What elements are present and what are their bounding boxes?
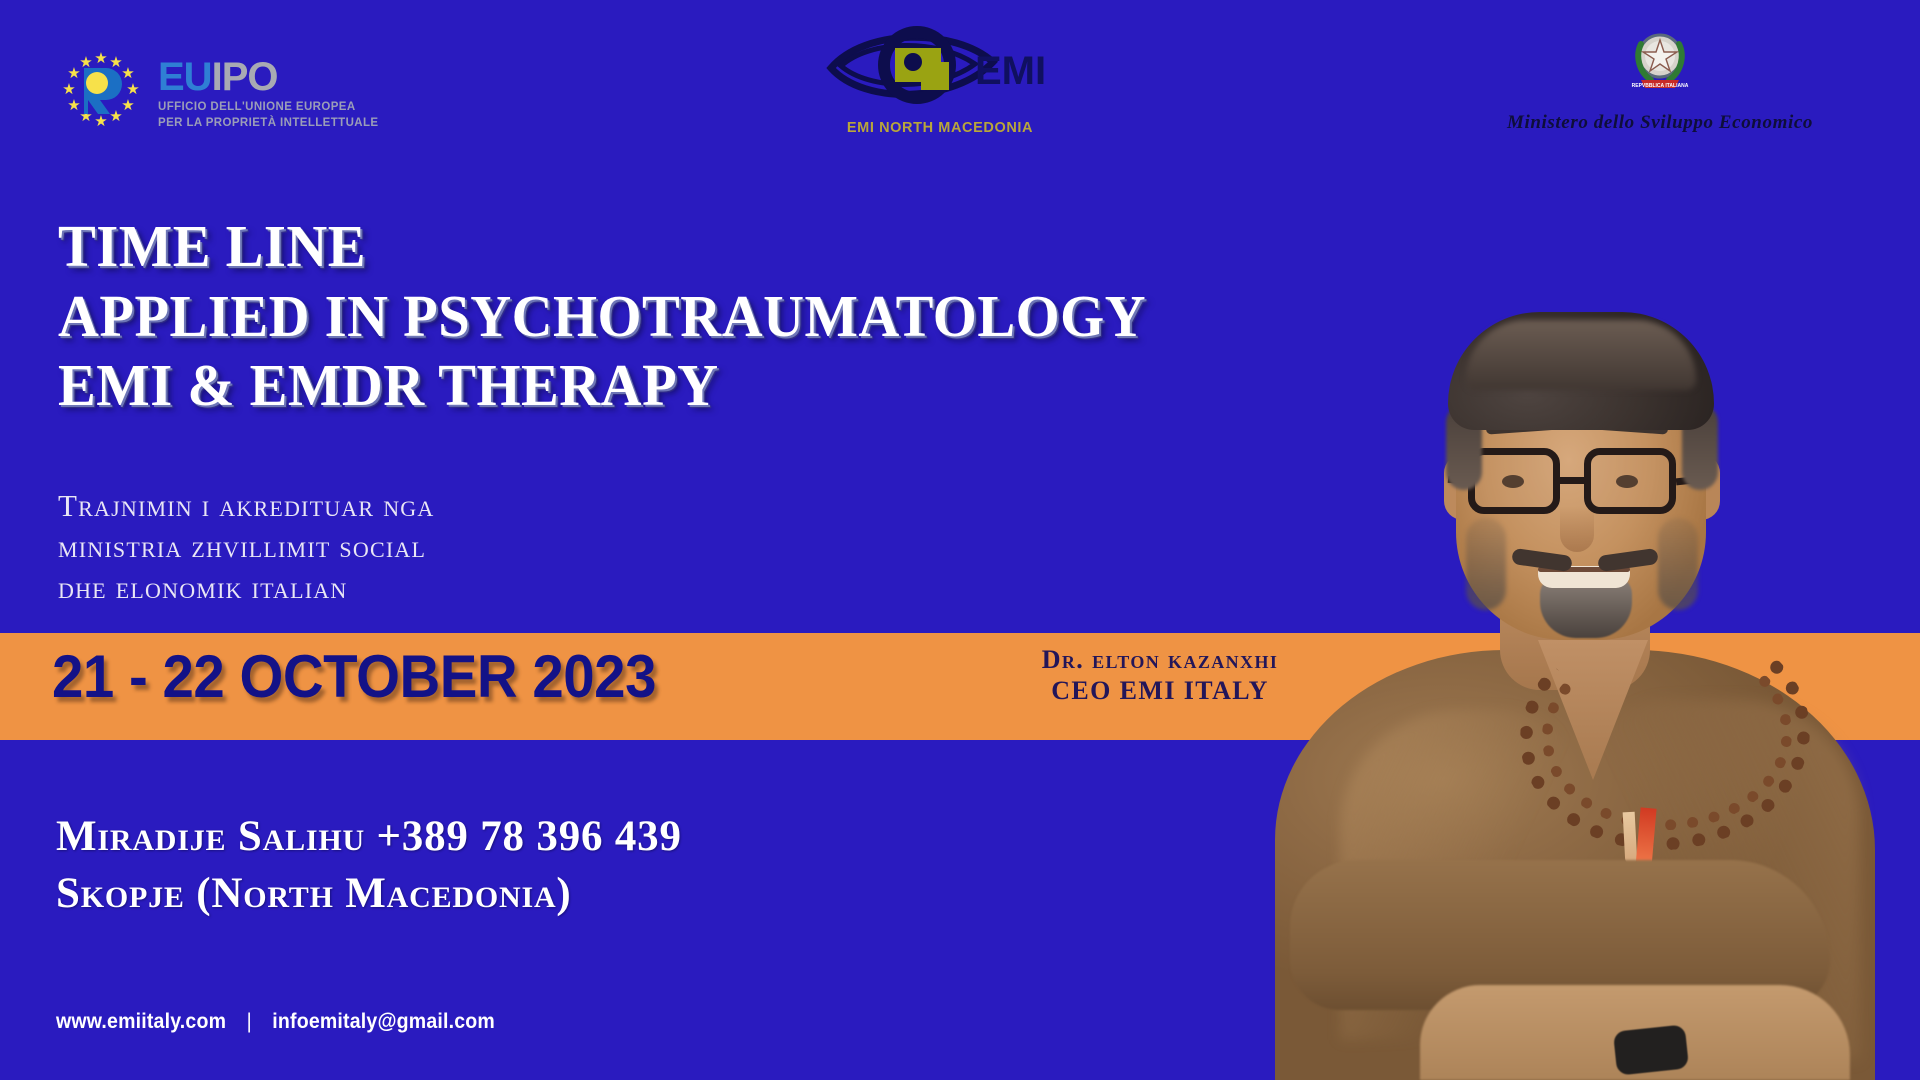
footer-separator: |	[247, 1010, 252, 1034]
website-link[interactable]: www.emiitaly.com	[56, 1010, 226, 1034]
contact-info: Miradije Salihu +389 78 396 439 Skopje (…	[56, 808, 956, 922]
svg-text:★: ★	[94, 50, 107, 67]
logo-bar: ★ ★ ★ ★ ★ ★ ★ ★ ★ ★ ★ ★	[0, 0, 1920, 175]
eu-circle-svg: ★ ★ ★ ★ ★ ★ ★ ★ ★ ★ ★ ★	[58, 48, 144, 134]
emi-eye-icon: EMI	[825, 22, 1055, 110]
euipo-wordmark: EUIPO UFFICIO DELL'UNIONE EUROPEA PER LA…	[158, 48, 379, 131]
event-date: 21 - 22 OCTOBER 2023	[52, 647, 656, 707]
speaker-block: Dr. elton kazanxhi CEO EMI ITALY	[950, 645, 1370, 706]
title-line-3: EMI & EMDR THERAPY	[58, 351, 1191, 421]
title-line-1: TIME LINE	[58, 212, 1191, 282]
euipo-ipo-text: IPO	[212, 55, 278, 99]
svg-text:★: ★	[94, 113, 107, 130]
svg-text:EMI: EMI	[975, 49, 1046, 93]
svg-text:★: ★	[121, 97, 134, 114]
eyeglasses	[1468, 448, 1560, 514]
title-line-2: APPLIED IN PSYCHOTRAUMATOLOGY	[58, 282, 1191, 352]
event-poster: ★ ★ ★ ★ ★ ★ ★ ★ ★ ★ ★ ★	[0, 0, 1920, 1080]
date-band: 21 - 22 OCTOBER 2023 Dr. elton kazanxhi …	[0, 633, 1920, 740]
accreditation-subtitle: Trajnimin i akredituar nga ministria zhv…	[58, 485, 758, 609]
speaker-portrait-photo	[1220, 145, 1920, 1080]
svg-text:★: ★	[67, 97, 80, 114]
footer-bar: www.emiitaly.com | infoemitaly@gmail.com	[56, 1010, 495, 1034]
euipo-eu-text: EU	[158, 55, 212, 99]
emi-logo: EMI EMI NORTH MACEDONIA	[825, 22, 1055, 147]
euipo-word: EUIPO	[158, 58, 379, 96]
svg-text:★: ★	[121, 65, 134, 82]
email-link[interactable]: infoemitaly@gmail.com	[272, 1010, 495, 1034]
eu-stars-circle-icon: ★ ★ ★ ★ ★ ★ ★ ★ ★ ★ ★ ★	[58, 48, 144, 134]
ministry-name: Ministero dello Sviluppo Economico	[1480, 112, 1840, 134]
ministry-logo: REPVBBLICA ITALIANA Ministero dello Svil…	[1480, 26, 1840, 151]
svg-text:★: ★	[126, 81, 139, 98]
italian-republic-emblem-icon: REPVBBLICA ITALIANA	[1629, 26, 1691, 100]
euipo-logo: ★ ★ ★ ★ ★ ★ ★ ★ ★ ★ ★ ★	[58, 48, 379, 134]
speaker-name: Dr. elton kazanxhi	[950, 645, 1370, 676]
speaker-role: CEO EMI ITALY	[950, 676, 1370, 707]
euipo-subtitle: UFFICIO DELL'UNIONE EUROPEA PER LA PROPR…	[158, 100, 379, 131]
svg-text:★: ★	[109, 108, 122, 125]
title-block: TIME LINE APPLIED IN PSYCHOTRAUMATOLOGY …	[58, 212, 1238, 421]
emi-caption: EMI NORTH MACEDONIA	[825, 120, 1055, 136]
svg-text:REPVBBLICA ITALIANA: REPVBBLICA ITALIANA	[1632, 83, 1689, 89]
wristwatch	[1613, 1024, 1689, 1075]
svg-text:★: ★	[62, 81, 75, 98]
